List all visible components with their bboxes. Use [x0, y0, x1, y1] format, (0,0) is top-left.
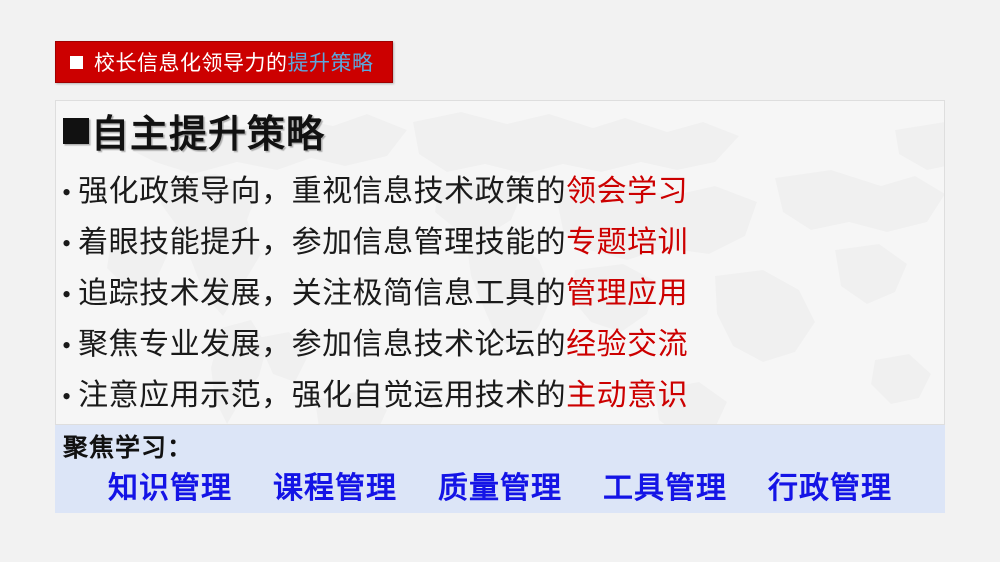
- title-banner-text-accent: 提升策略: [288, 47, 374, 77]
- list-item-text: 追踪技术发展，关注极简信息工具的: [78, 268, 566, 319]
- list-item-text: 聚焦专业发展，参加信息技术论坛的: [78, 319, 566, 370]
- list-item-text: 着眼技能提升，参加信息管理技能的: [78, 217, 566, 268]
- black-square-icon: [63, 118, 89, 144]
- list-item: • 追踪技术发展，关注极简信息工具的 管理应用: [62, 268, 862, 319]
- bullet-dot-icon: •: [62, 167, 71, 218]
- list-item: • 注意应用示范，强化自觉运用技术的 主动意识: [62, 370, 862, 421]
- focus-item-row: 知识管理 课程管理 质量管理 工具管理 行政管理: [55, 463, 945, 507]
- section-heading-text: 自主提升策略: [91, 103, 325, 158]
- focus-item: 知识管理: [108, 463, 232, 507]
- focus-box-label: 聚焦学习：: [63, 428, 193, 464]
- title-banner-text-primary: 校长信息化领导力的: [94, 47, 288, 77]
- section-heading: 自主提升策略: [63, 103, 325, 158]
- focus-item: 课程管理: [273, 463, 397, 507]
- title-banner: 校长信息化领导力的 提升策略: [55, 41, 393, 83]
- slide-canvas: 校长信息化领导力的 提升策略 自主提升策略 • 强化政策导向，重视信息技术政策的…: [0, 0, 1000, 562]
- focus-box: 聚焦学习： 知识管理 课程管理 质量管理 工具管理 行政管理: [55, 425, 945, 513]
- bullet-dot-icon: •: [62, 371, 71, 422]
- list-item: • 着眼技能提升，参加信息管理技能的 专题培训: [62, 217, 862, 268]
- focus-item: 质量管理: [438, 463, 562, 507]
- white-square-icon: [70, 56, 83, 69]
- bullet-dot-icon: •: [62, 320, 71, 371]
- bullet-dot-icon: •: [62, 269, 71, 320]
- list-item-highlight: 主动意识: [566, 370, 688, 421]
- list-item-highlight: 管理应用: [566, 268, 688, 319]
- bullet-list: • 强化政策导向，重视信息技术政策的 领会学习 • 着眼技能提升，参加信息管理技…: [62, 166, 862, 421]
- list-item-highlight: 专题培训: [566, 217, 688, 268]
- list-item: • 强化政策导向，重视信息技术政策的 领会学习: [62, 166, 862, 217]
- list-item: • 聚焦专业发展，参加信息技术论坛的 经验交流: [62, 319, 862, 370]
- list-item-text: 强化政策导向，重视信息技术政策的: [78, 166, 566, 217]
- bullet-dot-icon: •: [62, 218, 71, 269]
- focus-item: 行政管理: [768, 463, 892, 507]
- focus-item: 工具管理: [603, 463, 727, 507]
- list-item-text: 注意应用示范，强化自觉运用技术的: [78, 370, 566, 421]
- list-item-highlight: 经验交流: [566, 319, 688, 370]
- list-item-highlight: 领会学习: [566, 166, 688, 217]
